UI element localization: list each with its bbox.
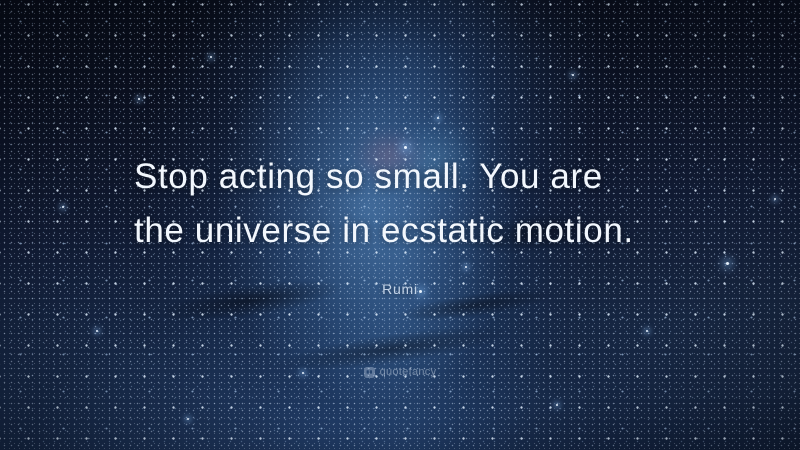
quote-text: Stop acting so small. You are the univer… <box>0 150 800 258</box>
watermark[interactable]: quotefancy <box>0 367 800 378</box>
quote-line-1: Stop acting so small. You are <box>0 150 800 204</box>
quotefancy-badge-icon <box>364 367 375 378</box>
quote-author: Rumi <box>0 281 800 297</box>
quote-line-2: the universe in ecstatic motion. <box>0 204 800 258</box>
quote-card: Stop acting so small. You are the univer… <box>0 0 800 450</box>
watermark-label: quotefancy <box>380 367 437 378</box>
